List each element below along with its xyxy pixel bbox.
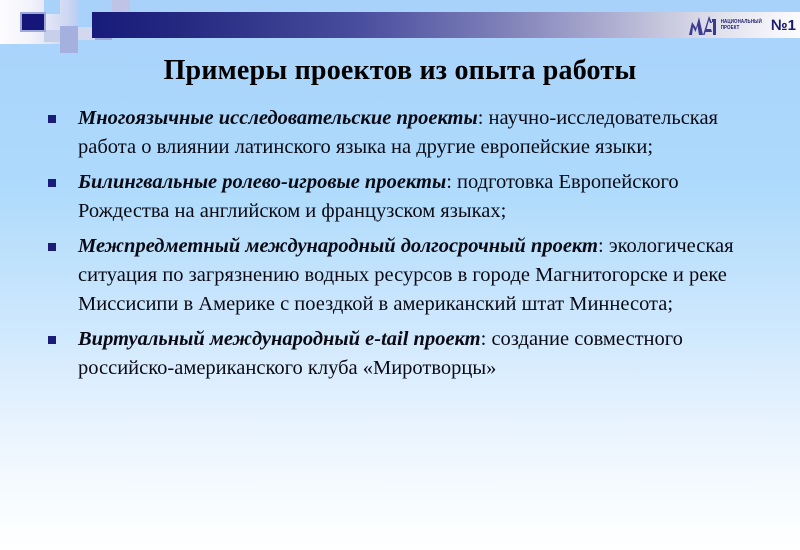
bullet-lead-text: Виртуальный международный e-tail проект	[78, 328, 481, 350]
logo-text-block: НАЦИОНАЛЬНЫЙ ПРОЕКТ	[721, 20, 762, 30]
bullet-lead-text: Билингвальные ролево-игровые проекты	[78, 171, 446, 193]
deco-square-j	[60, 40, 78, 53]
square-bullet-icon	[48, 243, 56, 251]
bullet-lead-text: Межпредметный международный долгосрочный…	[78, 235, 598, 257]
deco-square-g	[60, 26, 78, 40]
slide-header-band: НАЦИОНАЛЬНЫЙ ПРОЕКТ №1	[0, 0, 800, 52]
bullet-list: Многоязычные исследовательские проекты: …	[42, 104, 762, 389]
slide-canvas: НАЦИОНАЛЬНЫЙ ПРОЕКТ №1 Примеры проектов …	[0, 0, 800, 550]
square-bullet-icon	[48, 336, 56, 344]
list-item: Межпредметный международный долгосрочный…	[42, 232, 762, 319]
list-item: Виртуальный международный e-tail проект:…	[42, 325, 762, 383]
m-monogram-icon	[688, 13, 718, 37]
logo-line-2: ПРОЕКТ	[721, 25, 762, 30]
square-bullet-icon	[48, 179, 56, 187]
bullet-lead-text: Многоязычные исследовательские проекты	[78, 107, 478, 129]
deco-square-l	[44, 30, 60, 42]
list-item: Многоязычные исследовательские проекты: …	[42, 104, 762, 162]
deco-navy-square	[22, 14, 44, 30]
square-bullet-icon	[48, 115, 56, 123]
deco-square-k	[44, 0, 60, 14]
page-title: Примеры проектов из опыта работы	[0, 55, 800, 87]
logo-badge-number: №1	[771, 18, 796, 33]
brand-logo: НАЦИОНАЛЬНЫЙ ПРОЕКТ №1	[688, 8, 796, 42]
list-item: Билингвальные ролево-игровые проекты: по…	[42, 168, 762, 226]
